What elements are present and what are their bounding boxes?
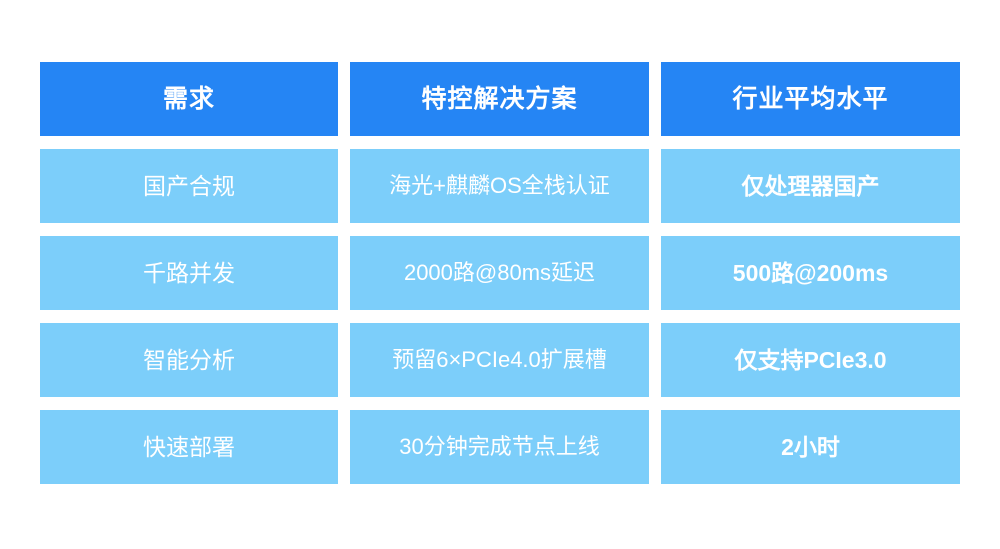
cell-industry: 2小时 — [661, 410, 960, 484]
table-header-row: 需求 特控解决方案 行业平均水平 — [40, 62, 960, 136]
cell-industry: 500路@200ms — [661, 236, 960, 310]
cell-requirement: 快速部署 — [40, 410, 338, 484]
cell-solution: 预留6×PCIe4.0扩展槽 — [350, 323, 649, 397]
header-cell-industry: 行业平均水平 — [661, 62, 960, 136]
table-row: 智能分析 预留6×PCIe4.0扩展槽 仅支持PCIe3.0 — [40, 323, 960, 397]
table-row: 千路并发 2000路@80ms延迟 500路@200ms — [40, 236, 960, 310]
cell-solution: 海光+麒麟OS全栈认证 — [350, 149, 649, 223]
header-cell-requirement: 需求 — [40, 62, 338, 136]
cell-requirement: 智能分析 — [40, 323, 338, 397]
cell-industry: 仅处理器国产 — [661, 149, 960, 223]
cell-requirement: 国产合规 — [40, 149, 338, 223]
table-row: 快速部署 30分钟完成节点上线 2小时 — [40, 410, 960, 484]
cell-solution: 2000路@80ms延迟 — [350, 236, 649, 310]
cell-industry: 仅支持PCIe3.0 — [661, 323, 960, 397]
cell-requirement: 千路并发 — [40, 236, 338, 310]
cell-solution: 30分钟完成节点上线 — [350, 410, 649, 484]
table-row: 国产合规 海光+麒麟OS全栈认证 仅处理器国产 — [40, 149, 960, 223]
comparison-table: 需求 特控解决方案 行业平均水平 国产合规 海光+麒麟OS全栈认证 仅处理器国产… — [40, 62, 960, 484]
header-cell-solution: 特控解决方案 — [350, 62, 649, 136]
